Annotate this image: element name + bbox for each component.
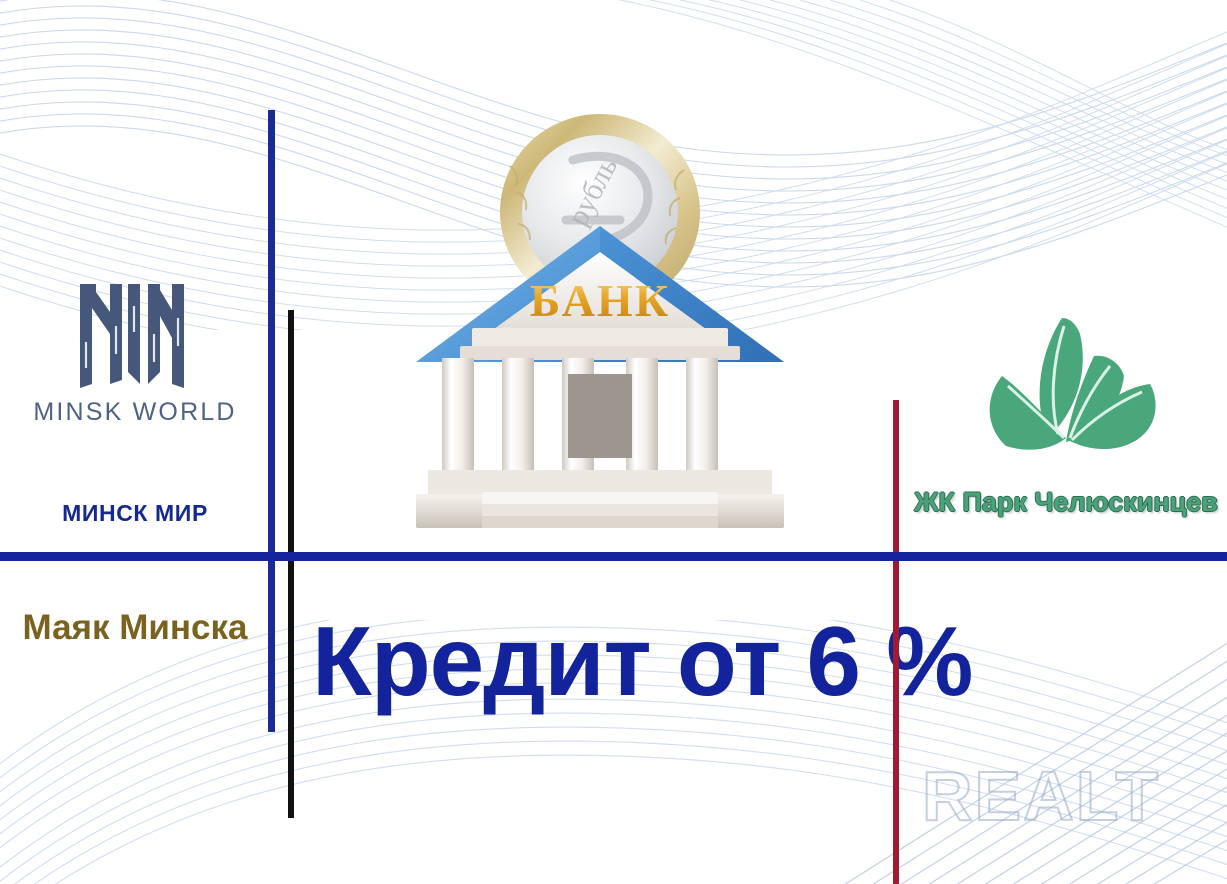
minsk-mir-label: МИНСК МИР <box>22 500 248 527</box>
bank-building-illustration: рубль БАНК <box>398 100 802 552</box>
divider-horizontal-blue <box>0 552 1227 561</box>
promo-banner: MINSK WORLD МИНСК МИР Маяк Минска <box>0 0 1227 884</box>
green-leaf-book-logo-icon <box>944 312 1184 472</box>
bank-sign-text: БАНК <box>530 275 670 326</box>
minsk-world-mw-monogram-icon <box>72 272 198 392</box>
divider-vertical-blue <box>268 110 275 732</box>
minsk-world-logo-block: MINSK WORLD <box>22 272 248 427</box>
park-chelyuskintsev-logo-block <box>905 312 1223 472</box>
minsk-world-wordmark: MINSK WORLD <box>22 398 248 427</box>
headline-credit-rate: Кредит от 6 % <box>312 612 892 710</box>
mayak-minska-label: Маяк Минска <box>10 608 260 648</box>
park-chelyuskintsev-label: ЖК Парк Челюскинцев <box>905 487 1227 518</box>
divider-vertical-black <box>288 310 294 818</box>
realt-watermark: REALT <box>922 756 1160 836</box>
divider-vertical-red <box>893 400 899 884</box>
